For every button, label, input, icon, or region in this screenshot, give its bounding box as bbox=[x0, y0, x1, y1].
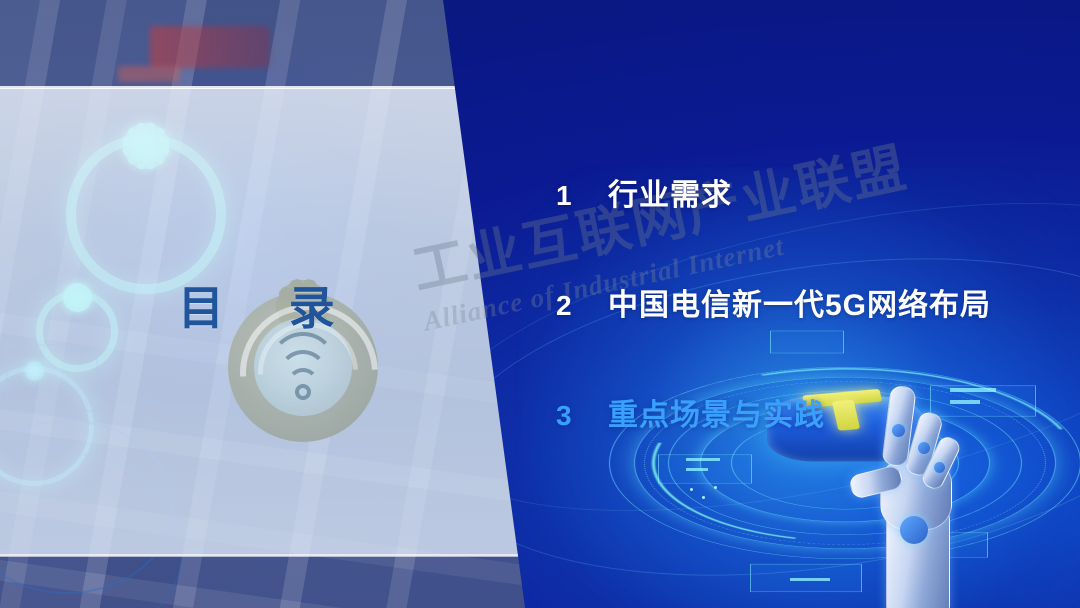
robotic-hand-graphic bbox=[834, 366, 984, 608]
wifi-icon bbox=[270, 352, 336, 400]
overlay-edge bbox=[0, 554, 560, 557]
hud-tick bbox=[686, 458, 720, 461]
hud-dot bbox=[714, 486, 717, 489]
toc-label: 重点场景与实践 bbox=[608, 390, 825, 434]
hand-joint bbox=[892, 424, 905, 437]
toc-item-2[interactable]: 2 中国电信新一代5G网络布局 bbox=[556, 280, 991, 324]
toc-item-3[interactable]: 3 重点场景与实践 bbox=[556, 390, 825, 434]
hud-dot bbox=[690, 488, 693, 491]
toc-label: 中国电信新一代5G网络布局 bbox=[608, 280, 991, 324]
hand-joint bbox=[934, 462, 945, 473]
page-title: 目 录 bbox=[178, 272, 361, 338]
toc-number: 2 bbox=[556, 290, 608, 322]
hud-tick bbox=[790, 578, 830, 581]
photo-highlight bbox=[118, 66, 180, 82]
toc-item-1[interactable]: 1 行业需求 bbox=[556, 170, 732, 214]
toc-label: 行业需求 bbox=[608, 170, 732, 214]
toc-number: 3 bbox=[556, 400, 608, 432]
hud-tick bbox=[686, 468, 708, 471]
toc-number: 1 bbox=[556, 180, 608, 212]
hand-wrist-joint bbox=[900, 516, 928, 544]
photo-highlight bbox=[150, 26, 270, 68]
hud-dot bbox=[702, 496, 705, 499]
hand-joint bbox=[918, 442, 930, 454]
hud-panel bbox=[770, 331, 844, 354]
presentation-slide: 目 录 工业互联网产业联盟 Alliance of Industrial Int… bbox=[0, 0, 1080, 608]
